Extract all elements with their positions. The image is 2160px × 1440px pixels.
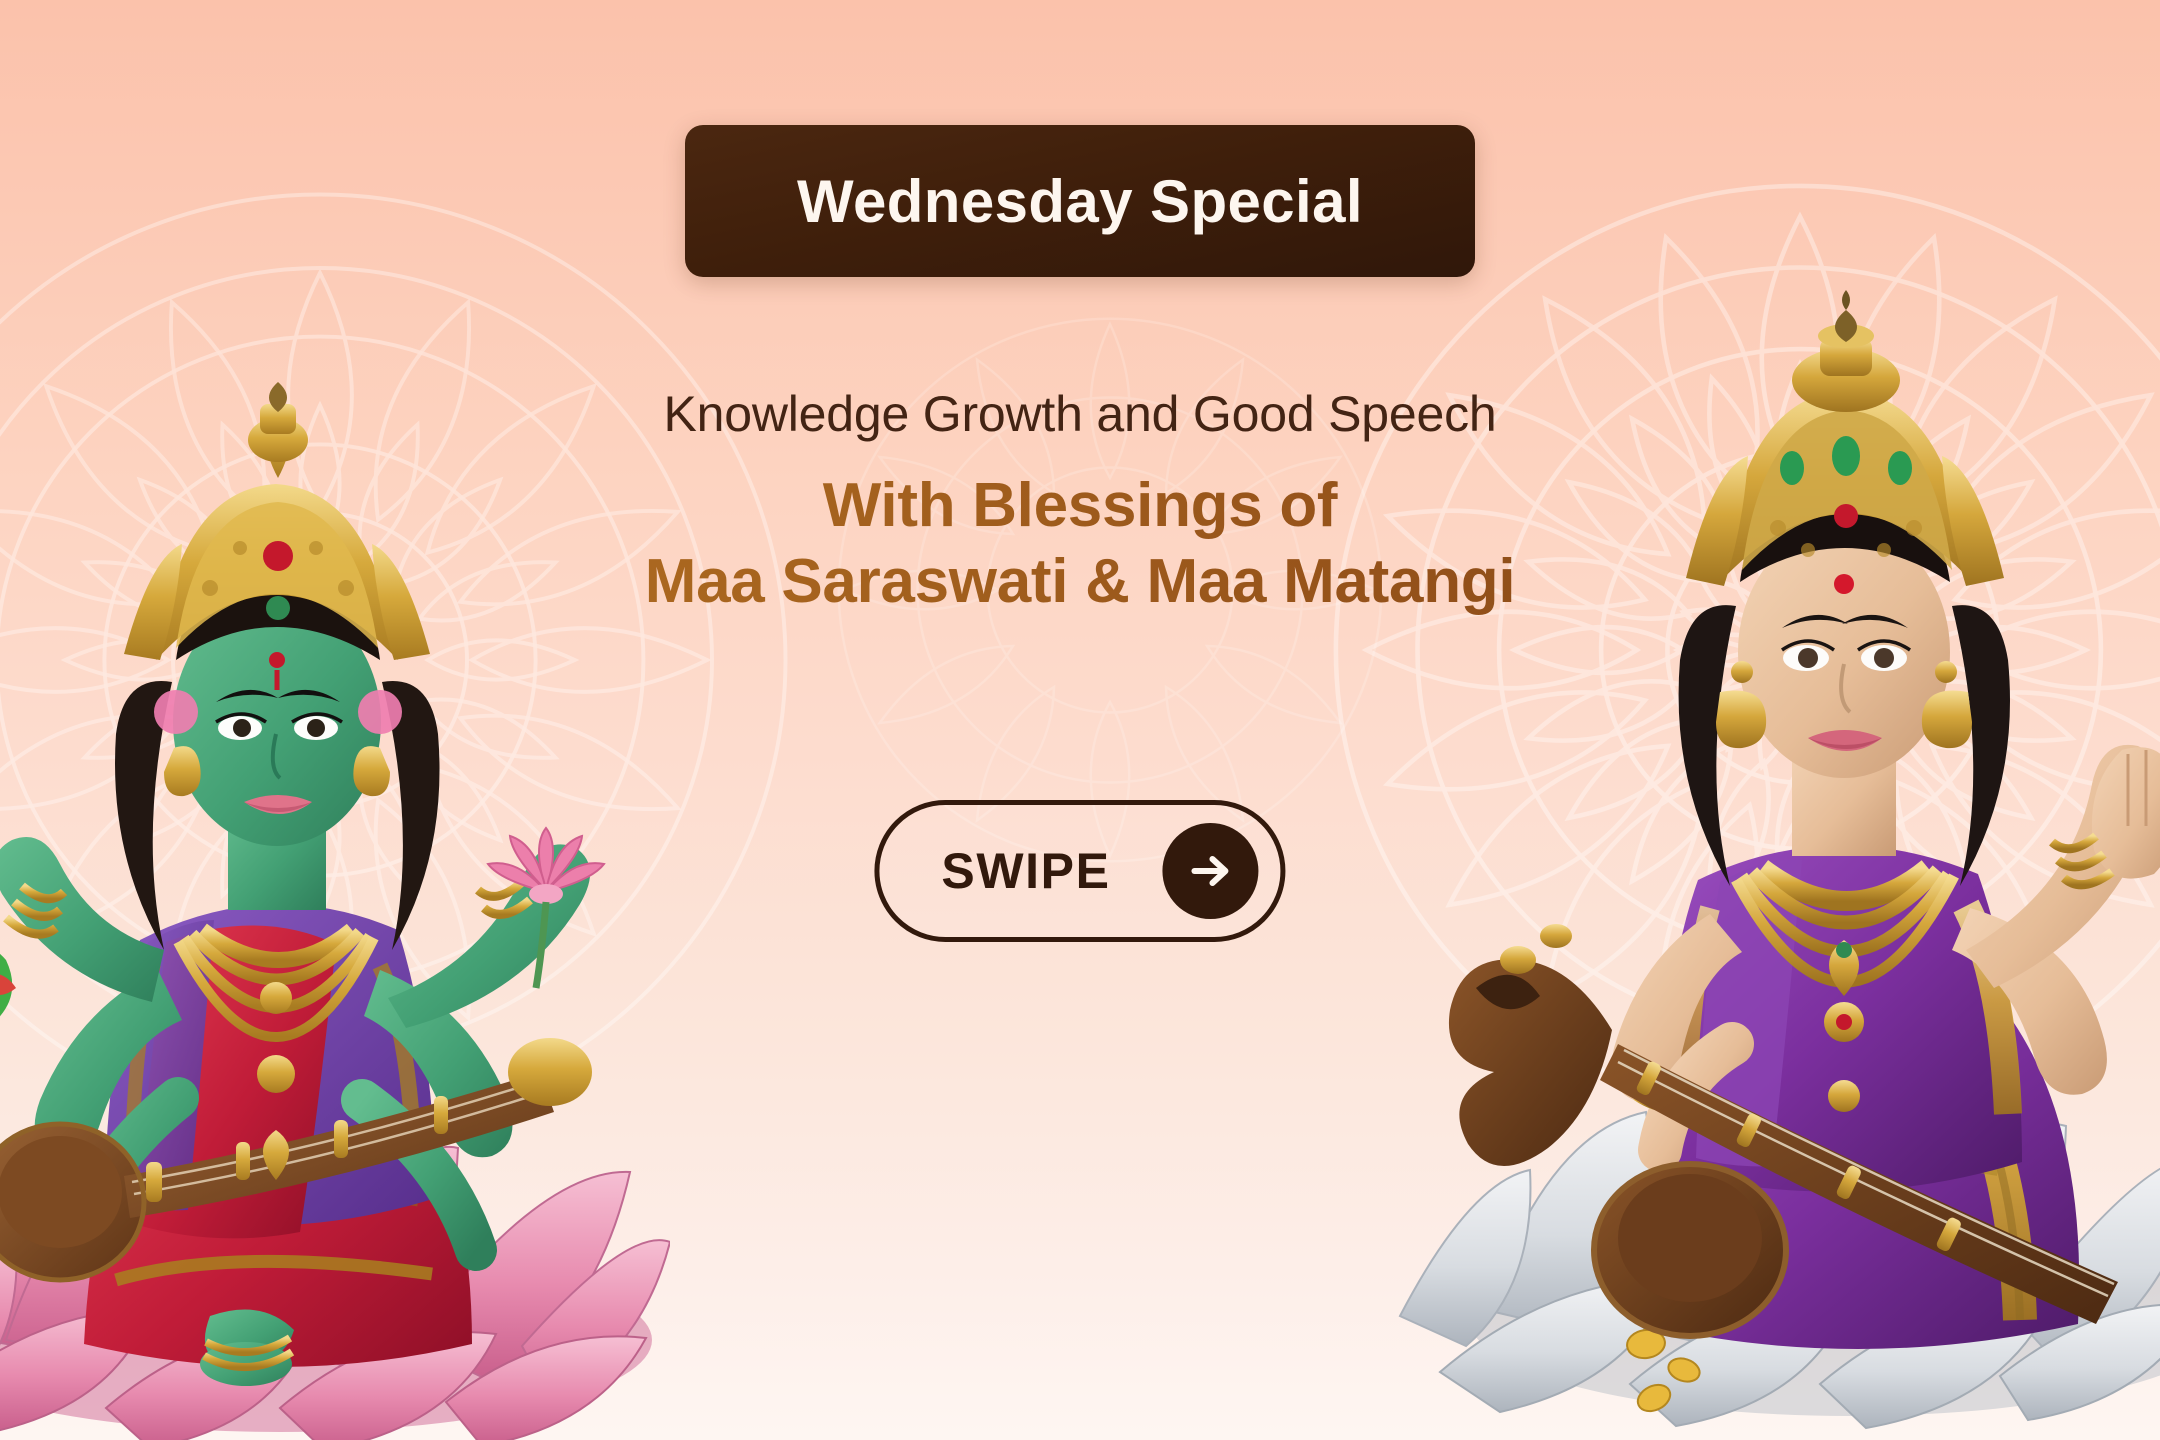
lotus-flower-icon xyxy=(488,828,604,988)
parrot-icon xyxy=(0,940,16,1064)
swipe-label: SWIPE xyxy=(941,842,1110,900)
saraswati-arms xyxy=(1612,745,2160,1150)
veena-left xyxy=(0,1038,592,1280)
matangi-head xyxy=(115,574,440,950)
gold-coins xyxy=(1625,1130,1729,1416)
badge-label: Wednesday Special xyxy=(797,167,1363,236)
arrow-right-icon[interactable] xyxy=(1163,823,1259,919)
lotus-pedestal-right xyxy=(1400,1098,2160,1428)
matangi-arms xyxy=(0,837,590,1250)
headline-block: Knowledge Growth and Good Speech With Bl… xyxy=(0,386,2160,619)
wednesday-special-badge: Wednesday Special xyxy=(685,125,1475,277)
saraswati-torso xyxy=(1660,845,2022,1191)
lotus-pedestal-left xyxy=(0,1126,670,1440)
matangi-feet xyxy=(200,1310,294,1386)
headline-line-2: Maa Saraswati & Maa Matangi xyxy=(0,544,2160,620)
mandala-background-left xyxy=(0,170,810,1150)
mandala-background-right xyxy=(1290,140,2160,1160)
promo-canvas: Wednesday Special Knowledge Growth and G… xyxy=(0,0,2160,1440)
headline-text: With Blessings of Maa Saraswati & Maa Ma… xyxy=(0,468,2160,619)
veena-right xyxy=(1449,924,2118,1336)
matangi-garment xyxy=(84,1030,472,1367)
headline-line-1: With Blessings of xyxy=(0,468,2160,544)
saraswati-garment xyxy=(1642,983,2079,1349)
matangi-torso xyxy=(104,904,436,1238)
abhaya-hand xyxy=(2092,747,2160,878)
matangi-jewellery xyxy=(178,930,374,1037)
saraswati-jewellery xyxy=(1736,868,1954,982)
swipe-button[interactable]: SWIPE xyxy=(874,800,1285,942)
eyebrow-text: Knowledge Growth and Good Speech xyxy=(0,386,2160,442)
